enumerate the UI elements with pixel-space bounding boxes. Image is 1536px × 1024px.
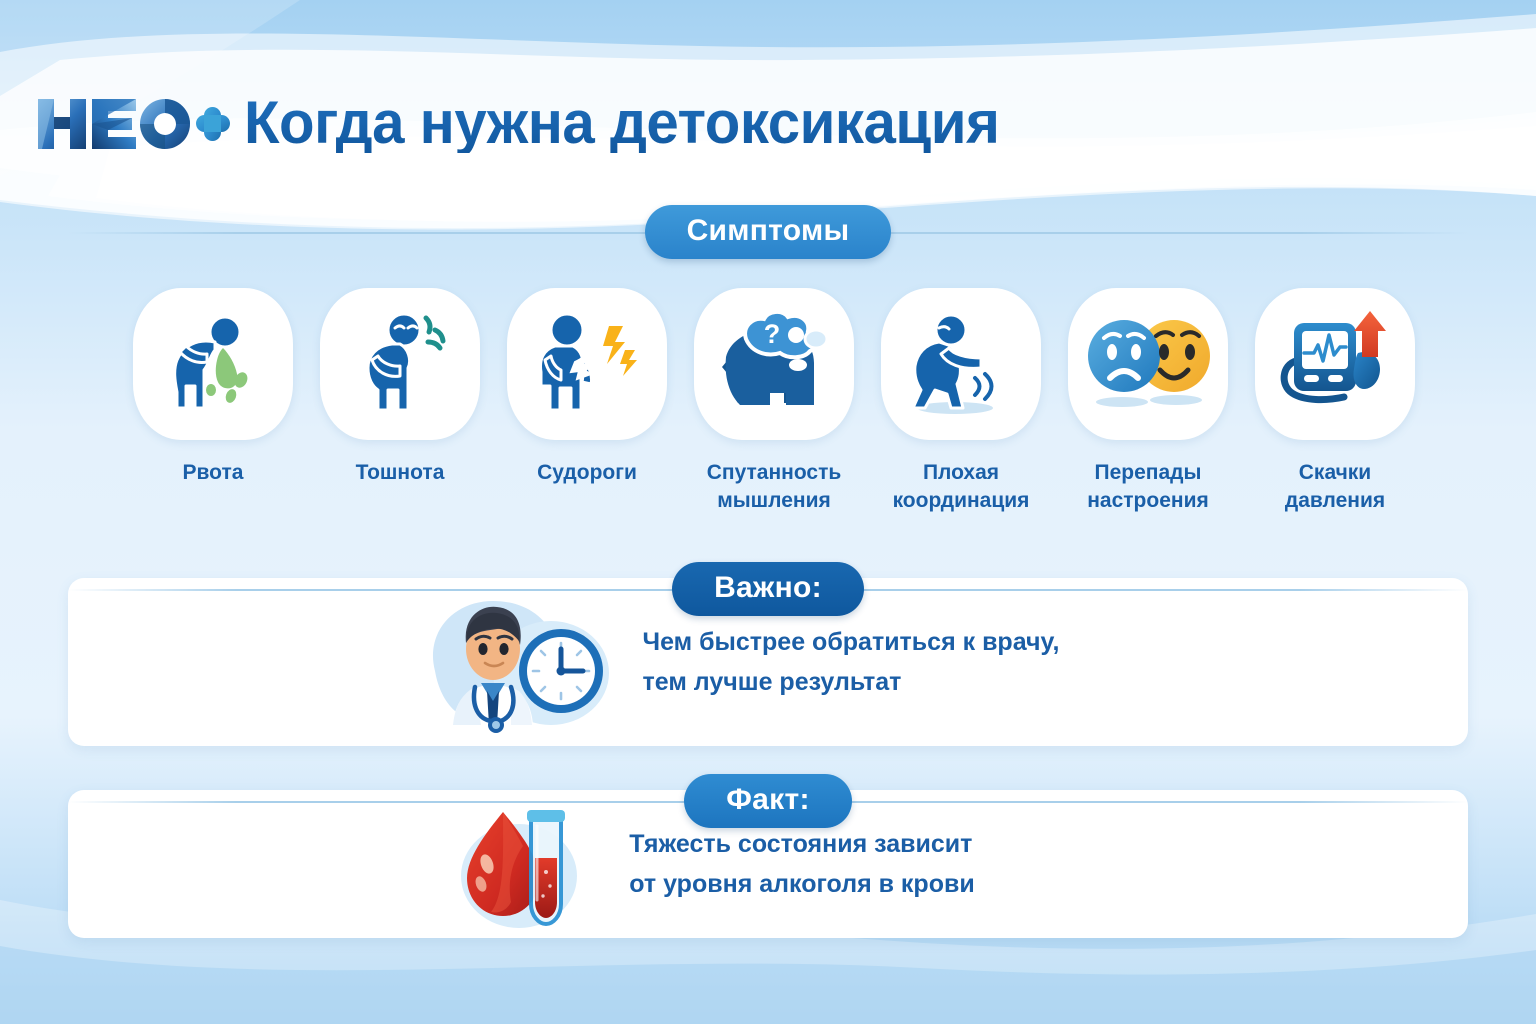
infographic-poster: Когда нужна детоксикация Симптомы <box>0 0 1536 1024</box>
symptom-item[interactable]: Судороги <box>502 288 672 515</box>
brand-logo <box>34 92 230 154</box>
symptom-item[interactable]: Плохая координация <box>876 288 1046 515</box>
symptoms-section-header: Симптомы <box>68 207 1468 257</box>
cramps-icon <box>527 308 647 420</box>
symptom-icon-card[interactable] <box>320 288 480 440</box>
symptom-label: Тошнота <box>356 459 445 487</box>
symptom-item[interactable]: Тошнота <box>315 288 485 515</box>
neo-plus-logo-icon <box>34 93 230 153</box>
important-text: Чем быстрее обратиться к врачу, тем лучш… <box>643 622 1060 703</box>
important-badge: Важно: <box>672 562 864 616</box>
symptom-label: Судороги <box>537 459 637 487</box>
symptom-label: Скачки давления <box>1285 459 1385 515</box>
symptom-item[interactable]: Скачки давления <box>1250 288 1420 515</box>
poster-header: Когда нужна детоксикация <box>0 78 1536 168</box>
symptoms-badge: Симптомы <box>645 205 892 259</box>
fact-badge: Факт: <box>684 774 852 828</box>
symptom-label: Перепады настроения <box>1087 459 1209 515</box>
important-section-header: Важно: <box>68 564 1468 614</box>
symptom-label: Рвота <box>183 459 244 487</box>
fact-section-header: Факт: <box>68 776 1468 826</box>
symptom-icon-card-wrap[interactable]: Перепады настроения <box>1063 288 1233 515</box>
symptom-icon-card[interactable] <box>881 288 1041 440</box>
symptom-label: Плохая координация <box>893 459 1030 515</box>
fact-text: Тяжесть состояния зависит от уровня алко… <box>629 824 974 905</box>
symptom-label: Спутанность мышления <box>707 459 842 515</box>
nausea-icon <box>342 308 458 420</box>
mood-swings-icon <box>1084 310 1212 418</box>
symptom-icon-card[interactable] <box>133 288 293 440</box>
vomiting-icon <box>153 308 273 420</box>
poor-coordination-icon <box>899 308 1023 420</box>
symptoms-list: Рвота <box>128 288 1420 515</box>
symptom-icon-card[interactable] <box>1255 288 1415 440</box>
symptom-icon-card[interactable] <box>1068 288 1228 440</box>
symptom-icon-card[interactable] <box>507 288 667 440</box>
symptom-icon-card[interactable]: ? <box>694 288 854 440</box>
blood-pressure-icon <box>1274 309 1396 419</box>
symptom-item[interactable]: ? Спутанность мышления <box>689 288 859 515</box>
page-title: Когда нужна детоксикация <box>244 93 999 153</box>
symptom-item[interactable]: Рвота <box>128 288 298 515</box>
confusion-icon: ? <box>712 309 836 419</box>
svg-text:?: ? <box>764 319 781 349</box>
